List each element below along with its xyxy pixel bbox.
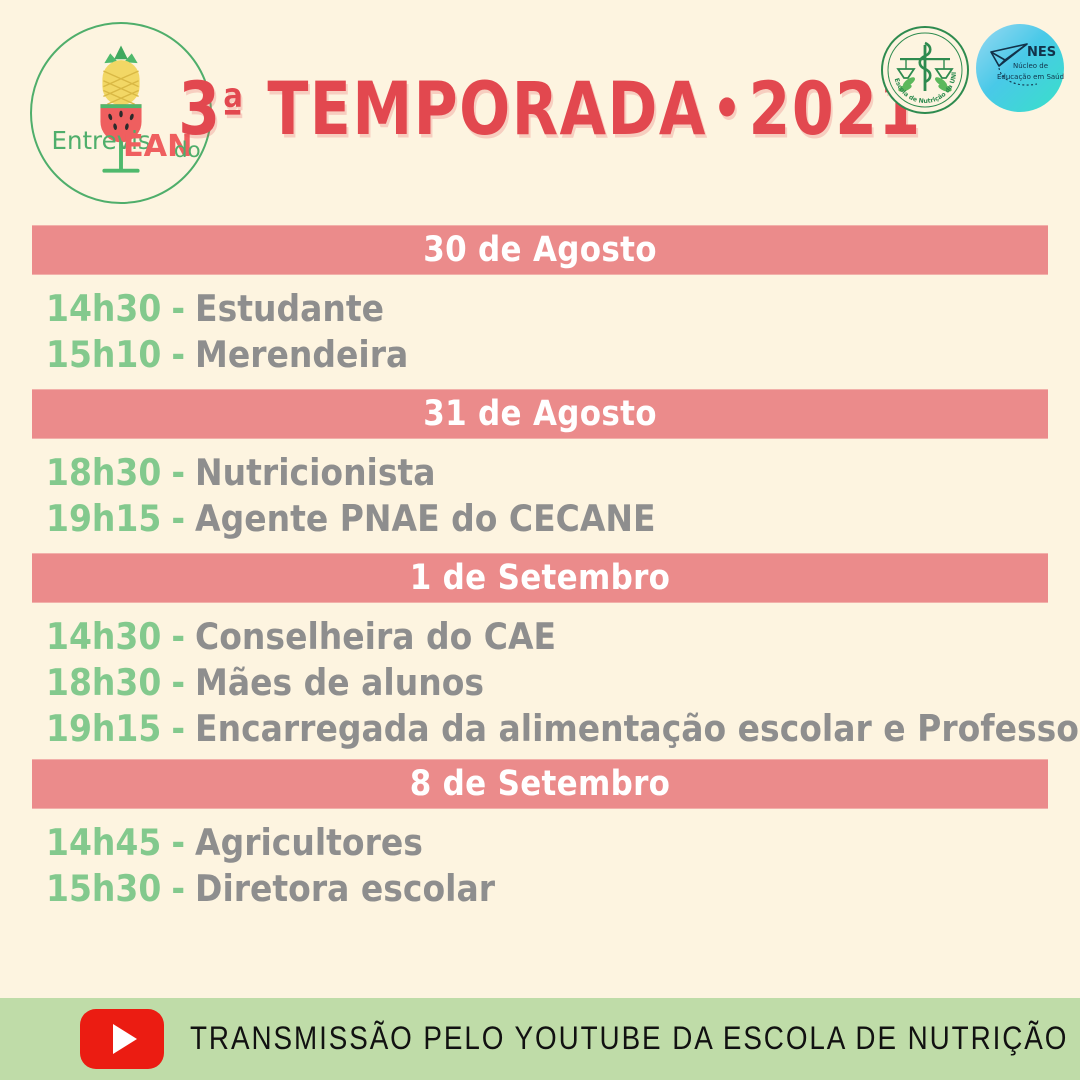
- session-list: 14h30-Estudante15h10-Merendeira: [32, 278, 1048, 388]
- session-time: 14h30: [46, 284, 161, 335]
- session-time: 15h10: [46, 330, 161, 381]
- session-row: 18h30-Nutricionista: [46, 448, 1048, 499]
- poster-canvas: Entrevis EAN do 3ª TEMPORADA•2021: [0, 0, 1080, 1080]
- session-dash: -: [161, 864, 195, 915]
- session-title: Agricultores: [195, 818, 423, 869]
- nes-line-1: Núcleo de: [1013, 62, 1048, 70]
- session-row: 15h10-Merendeira: [46, 330, 1048, 381]
- day-header: 8 de Setembro: [32, 759, 1048, 808]
- session-title: Nutricionista: [195, 448, 436, 499]
- session-row: 19h15-Encarregada da alimentação escolar…: [46, 704, 1048, 755]
- day-block: 31 de Agosto18h30-Nutricionista19h15-Age…: [32, 392, 1048, 552]
- play-triangle-icon: [113, 1024, 137, 1054]
- session-dash: -: [161, 612, 195, 663]
- session-list: 14h30-Conselheira do CAE18h30-Mães de al…: [32, 606, 1048, 758]
- session-title: Estudante: [195, 284, 384, 335]
- nes-acronym: NES: [1027, 45, 1056, 60]
- season-word: TEMPORADA: [267, 65, 707, 151]
- session-title: Diretora escolar: [195, 864, 495, 915]
- day-header: 31 de Agosto: [32, 389, 1048, 438]
- session-list: 14h45-Agricultores15h30-Diretora escolar: [32, 812, 1048, 918]
- session-dash: -: [161, 704, 195, 755]
- session-row: 14h30-Estudante: [46, 284, 1048, 335]
- session-row: 15h30-Diretora escolar: [46, 864, 1048, 915]
- season-number: 3: [178, 65, 221, 151]
- session-dash: -: [161, 284, 195, 335]
- session-row: 14h45-Agricultores: [46, 818, 1048, 869]
- season-title: 3ª TEMPORADA•2021: [242, 42, 859, 174]
- session-time: 19h15: [46, 494, 161, 545]
- season-ordinal: ª: [222, 81, 245, 135]
- session-title: Encarregada da alimentação escolar e Pro…: [195, 704, 1080, 755]
- youtube-play-icon[interactable]: [80, 1009, 164, 1069]
- session-list: 18h30-Nutricionista19h15-Agente PNAE do …: [32, 442, 1048, 552]
- day-header: 1 de Setembro: [32, 553, 1048, 602]
- session-title: Merendeira: [195, 330, 408, 381]
- day-block: 1 de Setembro14h30-Conselheira do CAE18h…: [32, 556, 1048, 758]
- nes-logo: NES Núcleo de Educação em Saúde: [975, 22, 1065, 114]
- session-title: Agente PNAE do CECANE: [195, 494, 656, 545]
- session-time: 15h30: [46, 864, 161, 915]
- session-dash: -: [161, 818, 195, 869]
- session-row: 18h30-Mães de alunos: [46, 658, 1048, 709]
- session-time: 14h45: [46, 818, 161, 869]
- nes-line-2: Educação em Saúde: [997, 73, 1065, 81]
- session-dash: -: [161, 448, 195, 499]
- session-dash: -: [161, 494, 195, 545]
- poster-header: Entrevis EAN do 3ª TEMPORADA•2021: [0, 0, 1080, 218]
- session-time: 18h30: [46, 448, 161, 499]
- session-dash: -: [161, 658, 195, 709]
- session-time: 14h30: [46, 612, 161, 663]
- day-block: 8 de Setembro14h45-Agricultores15h30-Dir…: [32, 762, 1048, 918]
- session-title: Conselheira do CAE: [195, 612, 556, 663]
- session-row: 14h30-Conselheira do CAE: [46, 612, 1048, 663]
- session-time: 19h15: [46, 704, 161, 755]
- broadcast-text: TRANSMISSÃO PELO YOUTUBE DA ESCOLA DE NU…: [190, 1021, 1068, 1058]
- day-block: 30 de Agosto14h30-Estudante15h10-Merende…: [32, 228, 1048, 388]
- broadcast-footer: TRANSMISSÃO PELO YOUTUBE DA ESCOLA DE NU…: [0, 998, 1080, 1080]
- escola-nutricao-unirio-logo: Escola de Nutrição da UNIRIO: [880, 25, 970, 115]
- schedule-list: 30 de Agosto14h30-Estudante15h10-Merende…: [32, 228, 1048, 922]
- session-time: 18h30: [46, 658, 161, 709]
- day-header: 30 de Agosto: [32, 225, 1048, 274]
- session-title: Mães de alunos: [195, 658, 484, 709]
- session-row: 19h15-Agente PNAE do CECANE: [46, 494, 1048, 545]
- session-dash: -: [161, 330, 195, 381]
- season-separator: •: [707, 76, 749, 140]
